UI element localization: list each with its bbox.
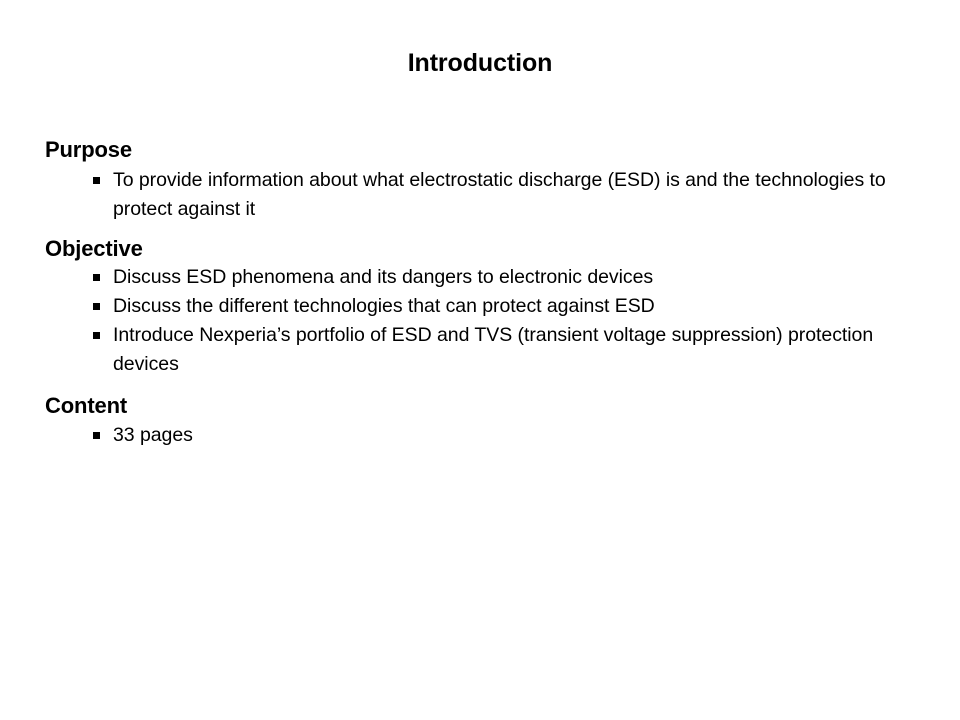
list-item: Discuss the different technologies that …: [45, 292, 935, 321]
list-item: Introduce Nexperia’s portfolio of ESD an…: [45, 321, 935, 379]
bullet-list-content: 33 pages: [45, 421, 935, 450]
section-content: Content 33 pages: [45, 392, 935, 450]
list-item-text: Discuss ESD phenomena and its dangers to…: [113, 266, 653, 288]
section-heading-purpose: Purpose: [45, 136, 935, 164]
list-item: 33 pages: [45, 421, 935, 450]
bullet-list-purpose: To provide information about what electr…: [45, 166, 935, 224]
list-item: Discuss ESD phenomena and its dangers to…: [45, 263, 935, 292]
square-bullet-icon: [93, 177, 100, 184]
slide-body: Purpose To provide information about wha…: [45, 136, 935, 450]
page-title: Introduction: [0, 50, 960, 78]
list-item-text: 33 pages: [113, 424, 193, 446]
section-heading-objective: Objective: [45, 235, 935, 263]
list-item-text: Introduce Nexperia’s portfolio of ESD an…: [113, 324, 873, 375]
bullet-list-objective: Discuss ESD phenomena and its dangers to…: [45, 263, 935, 379]
list-item-text: Discuss the different technologies that …: [113, 295, 655, 317]
section-purpose: Purpose To provide information about wha…: [45, 136, 935, 224]
section-objective: Objective Discuss ESD phenomena and its …: [45, 235, 935, 380]
slide: Introduction Purpose To provide informat…: [0, 0, 960, 720]
section-heading-content: Content: [45, 392, 935, 420]
square-bullet-icon: [93, 432, 100, 439]
list-item-text: To provide information about what electr…: [113, 169, 886, 220]
list-item: To provide information about what electr…: [45, 166, 935, 224]
square-bullet-icon: [93, 274, 100, 281]
square-bullet-icon: [93, 303, 100, 310]
square-bullet-icon: [93, 332, 100, 339]
